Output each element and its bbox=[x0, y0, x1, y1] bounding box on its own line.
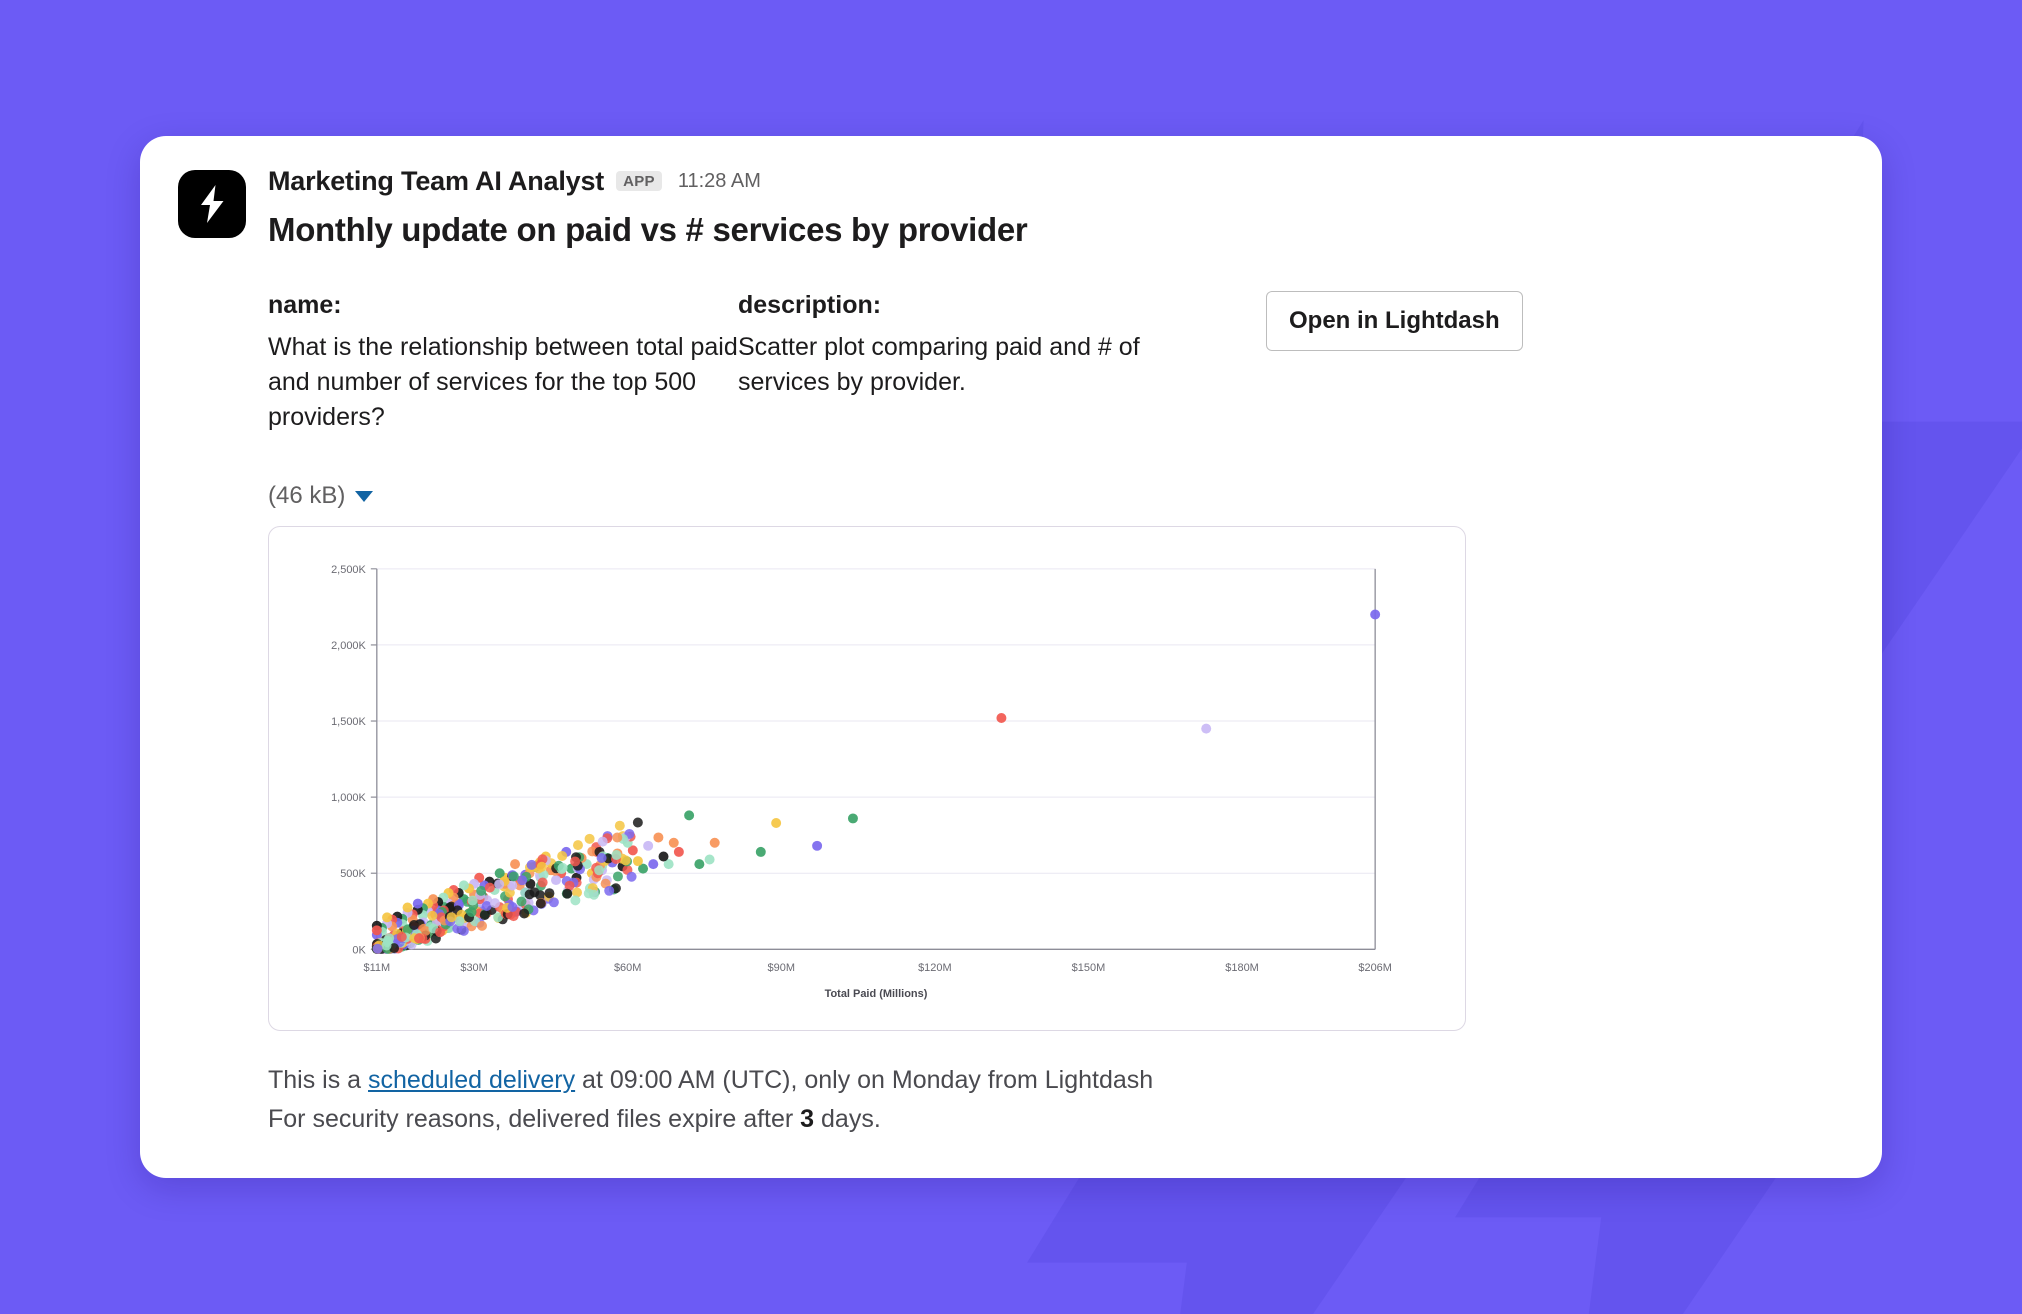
footer: This is a scheduled delivery at 09:00 AM… bbox=[268, 1061, 1844, 1139]
metadata-row: name: What is the relationship between t… bbox=[268, 291, 1844, 434]
file-size-label: (46 kB) bbox=[268, 482, 345, 510]
lightning-bolt-icon bbox=[197, 185, 227, 223]
description-value: Scatter plot comparing paid and # of ser… bbox=[738, 330, 1228, 400]
sender-row: Marketing Team AI Analyst APP 11:28 AM bbox=[268, 166, 1844, 196]
name-value: What is the relationship between total p… bbox=[268, 330, 738, 434]
name-label: name: bbox=[268, 291, 738, 320]
scheduled-delivery-link[interactable]: scheduled delivery bbox=[368, 1066, 575, 1094]
scatter-plot: 0K500K1,000K1,500K2,000K2,500K$11M$30M$6… bbox=[269, 527, 1465, 1030]
svg-text:$120M: $120M bbox=[918, 962, 952, 974]
svg-text:Total Paid (Millions): Total Paid (Millions) bbox=[825, 988, 928, 1000]
attachment-size-row: (46 kB) bbox=[268, 482, 1844, 510]
chart-axis-labels: 0K500K1,000K1,500K2,000K2,500K$11M$30M$6… bbox=[331, 564, 1392, 1000]
message-header: Marketing Team AI Analyst APP 11:28 AM M… bbox=[178, 166, 1844, 249]
sender-name[interactable]: Marketing Team AI Analyst bbox=[268, 166, 604, 197]
footer-suffix: at 09:00 AM (UTC), only on Monday from L… bbox=[575, 1066, 1153, 1094]
chart-attachment[interactable]: 0K500K1,000K1,500K2,000K2,500K$11M$30M$6… bbox=[268, 526, 1466, 1031]
chart-datapoints bbox=[372, 610, 1380, 954]
svg-text:2,000K: 2,000K bbox=[331, 640, 366, 652]
footer-prefix: This is a bbox=[268, 1066, 368, 1094]
svg-text:$180M: $180M bbox=[1225, 962, 1259, 974]
svg-text:$150M: $150M bbox=[1072, 962, 1106, 974]
name-column: name: What is the relationship between t… bbox=[268, 291, 738, 434]
svg-text:$60M: $60M bbox=[614, 962, 641, 974]
message-timestamp[interactable]: 11:28 AM bbox=[678, 170, 761, 193]
app-badge: APP bbox=[616, 171, 662, 191]
svg-text:$206M: $206M bbox=[1358, 962, 1392, 974]
footer-line-2: For security reasons, delivered files ex… bbox=[268, 1100, 1844, 1139]
expiry-suffix: days. bbox=[814, 1105, 881, 1133]
caret-down-icon[interactable] bbox=[355, 491, 373, 502]
description-column: description: Scatter plot comparing paid… bbox=[738, 291, 1228, 400]
message-title: Monthly update on paid vs # services by … bbox=[268, 211, 1844, 249]
description-label: description: bbox=[738, 291, 1228, 320]
expiry-prefix: For security reasons, delivered files ex… bbox=[268, 1105, 800, 1133]
open-in-lightdash-button[interactable]: Open in Lightdash bbox=[1266, 291, 1523, 351]
slack-message-card: Marketing Team AI Analyst APP 11:28 AM M… bbox=[140, 136, 1882, 1178]
expiry-days: 3 bbox=[800, 1105, 814, 1133]
svg-text:1,000K: 1,000K bbox=[331, 792, 366, 804]
footer-line-1: This is a scheduled delivery at 09:00 AM… bbox=[268, 1061, 1844, 1100]
svg-text:$90M: $90M bbox=[768, 962, 795, 974]
svg-text:$11M: $11M bbox=[364, 962, 391, 974]
svg-text:2,500K: 2,500K bbox=[331, 564, 366, 576]
svg-text:0K: 0K bbox=[352, 945, 366, 957]
svg-text:1,500K: 1,500K bbox=[331, 716, 366, 728]
svg-text:500K: 500K bbox=[340, 868, 366, 880]
svg-text:$30M: $30M bbox=[460, 962, 487, 974]
avatar[interactable] bbox=[178, 170, 246, 238]
